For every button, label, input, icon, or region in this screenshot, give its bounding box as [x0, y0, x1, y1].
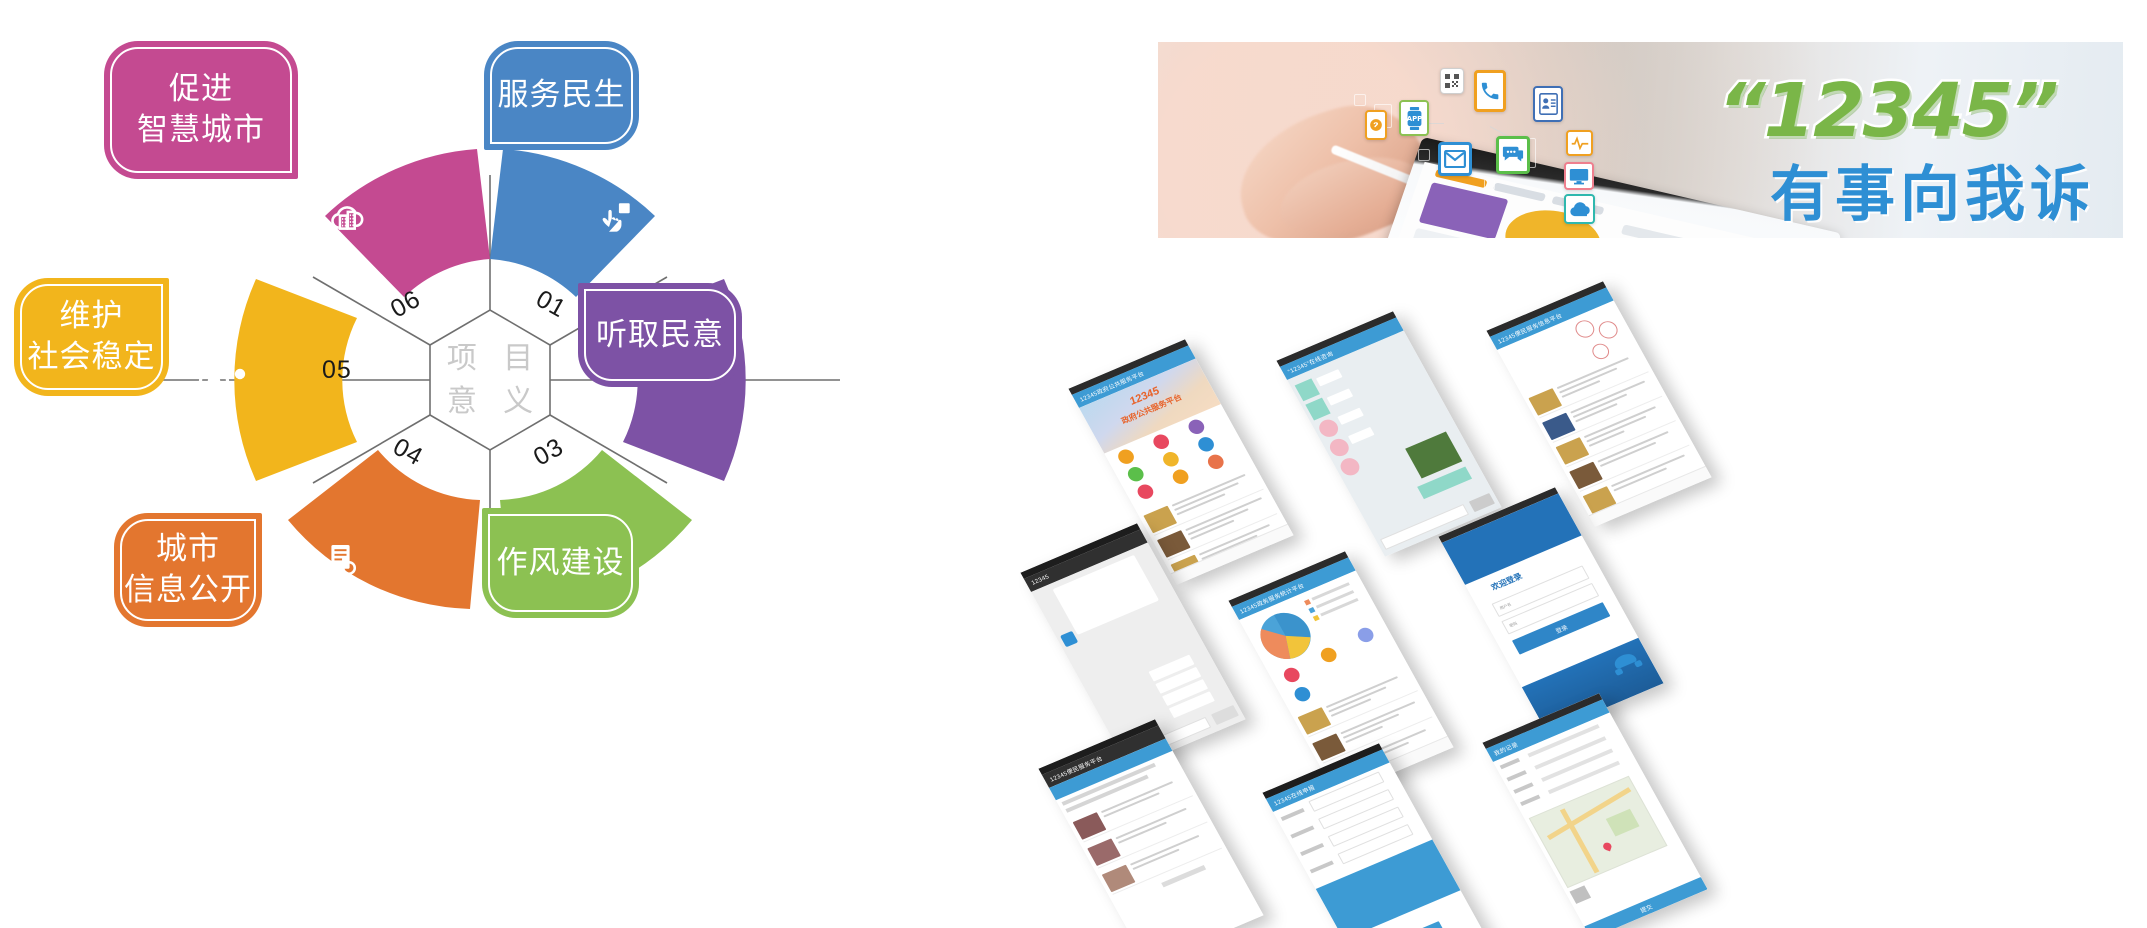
segment-number-05: 05 — [322, 356, 352, 385]
pulse-icon[interactable] — [1566, 130, 1593, 156]
phone-mockup-showcase: 12345政府公共服务平台 12345 政府公共服务平台 — [1140, 330, 2140, 900]
stamp-icon — [1572, 318, 1597, 341]
phone-screen-news-detail[interactable]: 12345便民服务平台 — [1038, 719, 1263, 928]
email-icon[interactable] — [1438, 142, 1472, 176]
chat-avatar — [1316, 417, 1341, 440]
segment-card-05[interactable]: 维护 社会稳定 — [14, 278, 169, 396]
feed-thumbnail — [1157, 530, 1191, 558]
id-card-icon[interactable] — [1533, 86, 1563, 122]
record-label — [1513, 782, 1533, 793]
chat-avatar — [1305, 398, 1330, 421]
chat-bubble — [1348, 427, 1375, 444]
form-field-label — [1290, 826, 1314, 839]
attachment-thumb[interactable] — [1569, 885, 1591, 904]
qrcode-icon[interactable] — [1440, 68, 1464, 94]
chat-bubble — [1316, 369, 1343, 386]
stat-thumbnail — [1298, 707, 1332, 735]
center-label-line1: 项 目 — [420, 338, 560, 381]
segment-card-label-05: 维护 社会稳定 — [22, 296, 162, 378]
network-nodes-icon — [201, 368, 228, 395]
phone-screen-news-list[interactable]: 12345便民服务信息平台 — [1486, 281, 1711, 526]
login-title: 欢迎登录 — [1489, 571, 1524, 593]
tile-icon-3[interactable] — [1186, 417, 1207, 436]
segment-card-label-04: 城市 信息公开 — [118, 529, 258, 611]
legend-swatch — [1308, 607, 1315, 613]
tile-icon-5[interactable] — [1160, 450, 1181, 469]
banner-headline: “12345” — [1718, 68, 2057, 154]
news-thumbnail — [1556, 437, 1590, 465]
tile-icon-2[interactable] — [1151, 432, 1172, 451]
segment-card-04[interactable]: 城市 信息公开 — [114, 513, 262, 627]
news-thumbnail — [1569, 462, 1603, 490]
ghost-square-4 — [1484, 179, 1495, 190]
map-pin-icon — [1602, 841, 1612, 851]
segment-card-03[interactable]: 作风建设 — [482, 508, 639, 618]
record-label — [1500, 758, 1520, 769]
map-park — [1606, 809, 1640, 837]
cloud-icon[interactable] — [1564, 194, 1595, 224]
stamp-icon — [1596, 318, 1621, 341]
chat-avatar — [1295, 378, 1320, 401]
stat-icon-4[interactable] — [1292, 685, 1313, 704]
chat-avatar — [1337, 455, 1362, 478]
stat-icon-1[interactable] — [1281, 665, 1302, 684]
segment-card-label-03: 作风建设 — [491, 543, 631, 584]
chat-avatar — [1327, 436, 1352, 459]
phone-icon[interactable] — [1474, 70, 1506, 112]
segment-card-02[interactable]: 听取民意 — [578, 283, 742, 387]
phone-screen-login[interactable]: 欢迎登录 用户名 密码 登录 — [1438, 487, 1663, 732]
wechat-app-icon[interactable] — [1365, 110, 1387, 140]
record-label — [1520, 795, 1540, 806]
smartwatch-app-icon[interactable]: APP — [1399, 100, 1429, 136]
phone-screen-map-record[interactable]: 我的记录 提交 — [1482, 693, 1707, 928]
segment-card-label-01: 服务民生 — [492, 75, 632, 116]
petal-06 — [325, 149, 490, 297]
password-placeholder: 密码 — [1508, 621, 1518, 629]
detail-thumbnail — [1102, 865, 1136, 893]
username-placeholder: 用户名 — [1499, 602, 1513, 612]
page-root: 项 目 意 义 01 02 03 04 05 06 促进 智慧城市 服务民生 听… — [0, 0, 2147, 928]
segment-card-label-02: 听取民意 — [590, 315, 730, 356]
petal-01 — [490, 149, 655, 297]
news-thumbnail — [1542, 413, 1576, 441]
segment-card-01[interactable]: 服务民生 — [484, 41, 639, 150]
detail-thumbnail — [1087, 838, 1121, 866]
promo-banner: APP — [1158, 42, 2123, 238]
record-label — [1506, 770, 1526, 781]
stat-thumbnail — [1312, 733, 1346, 761]
message-avatar — [1060, 631, 1078, 647]
ghost-square-1 — [1354, 94, 1366, 106]
tile-icon-8[interactable] — [1170, 467, 1191, 486]
message-send-button[interactable] — [1211, 705, 1239, 725]
chat-bubble-icon[interactable] — [1496, 136, 1530, 174]
svg-text:APP: APP — [1406, 114, 1421, 122]
stat-icon-3[interactable] — [1355, 625, 1376, 644]
form-field-label — [1281, 808, 1305, 821]
legend-swatch — [1313, 615, 1320, 621]
map-submit-button[interactable]: 提交 — [1584, 877, 1707, 928]
feed-thumbnail — [1143, 506, 1177, 534]
form-field-label — [1310, 861, 1334, 874]
segment-card-06[interactable]: 促进 智慧城市 — [104, 41, 298, 179]
legend-swatch — [1304, 599, 1311, 605]
tile-icon-1[interactable] — [1115, 447, 1136, 466]
tile-icon-4[interactable] — [1125, 465, 1146, 484]
chat-bubble — [1337, 408, 1364, 425]
center-label-line2: 意 义 — [420, 381, 560, 424]
tile-icon-9[interactable] — [1205, 452, 1226, 471]
center-label: 项 目 意 义 — [420, 338, 560, 423]
stamp-icon — [1589, 341, 1612, 361]
phone-body-login: 欢迎登录 用户名 密码 登录 — [1442, 493, 1664, 732]
banner-subheadline: 有事向我诉 — [1770, 146, 2095, 233]
detail-thumbnail — [1073, 812, 1107, 840]
ghost-square-3 — [1418, 149, 1430, 161]
petal-04 — [288, 450, 480, 609]
phone-screen-im-chat[interactable]: “12345”在线咨询 — [1276, 311, 1501, 556]
segment-card-label-06: 促进 智慧城市 — [131, 69, 271, 151]
tile-icon-6[interactable] — [1196, 435, 1217, 454]
phone-screen-form-submit[interactable]: 12345在线申报 提交 — [1262, 743, 1487, 928]
chat-bubble — [1327, 388, 1354, 405]
news-thumbnail — [1528, 388, 1562, 416]
form-field-label — [1300, 843, 1324, 856]
hexagon-infographic: 项 目 意 义 01 02 03 04 05 06 促进 智慧城市 服务民生 听… — [0, 0, 1060, 928]
form-submit-button[interactable]: 提交 — [1385, 921, 1445, 928]
chat-send-button[interactable] — [1469, 493, 1495, 512]
monitor-icon[interactable] — [1564, 162, 1594, 190]
tile-icon-7[interactable] — [1135, 482, 1156, 501]
